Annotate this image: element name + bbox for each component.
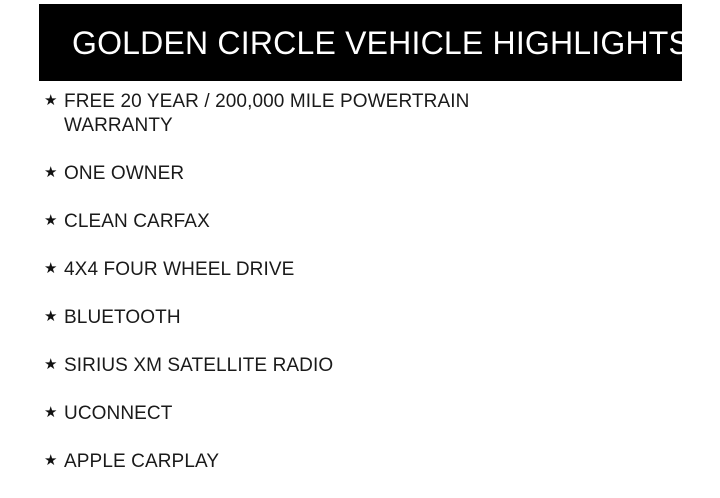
list-item-label: CLEAN CARFAX <box>64 210 564 234</box>
header-bar: GOLDEN CIRCLE VEHICLE HIGHLIGHTS <box>39 4 682 81</box>
star-icon: ★ <box>40 306 64 328</box>
star-icon: ★ <box>40 90 64 112</box>
list-item-label: SIRIUS XM SATELLITE RADIO <box>64 354 564 378</box>
star-icon: ★ <box>40 210 64 232</box>
list-item-label: BLUETOOTH <box>64 306 564 330</box>
list-item-label: APPLE CARPLAY <box>64 450 564 474</box>
list-item: ★ SIRIUS XM SATELLITE RADIO <box>40 354 680 378</box>
vehicle-highlights-panel: GOLDEN CIRCLE VEHICLE HIGHLIGHTS ★ FREE … <box>0 0 720 480</box>
star-icon: ★ <box>40 258 64 280</box>
star-icon: ★ <box>40 354 64 376</box>
list-item: ★ BLUETOOTH <box>40 306 680 330</box>
list-item: ★ CLEAN CARFAX <box>40 210 680 234</box>
list-item-label: FREE 20 YEAR / 200,000 MILE POWERTRAIN W… <box>64 90 564 138</box>
page-title: GOLDEN CIRCLE VEHICLE HIGHLIGHTS <box>72 27 690 59</box>
list-item-label: UCONNECT <box>64 402 564 426</box>
star-icon: ★ <box>40 450 64 472</box>
list-item: ★ APPLE CARPLAY <box>40 450 680 474</box>
list-item: ★ FREE 20 YEAR / 200,000 MILE POWERTRAIN… <box>40 90 680 138</box>
highlights-list: ★ FREE 20 YEAR / 200,000 MILE POWERTRAIN… <box>40 90 680 498</box>
list-item-label: 4X4 FOUR WHEEL DRIVE <box>64 258 564 282</box>
list-item: ★ ONE OWNER <box>40 162 680 186</box>
list-item-label: ONE OWNER <box>64 162 564 186</box>
star-icon: ★ <box>40 162 64 184</box>
list-item: ★ UCONNECT <box>40 402 680 426</box>
list-item: ★ 4X4 FOUR WHEEL DRIVE <box>40 258 680 282</box>
star-icon: ★ <box>40 402 64 424</box>
